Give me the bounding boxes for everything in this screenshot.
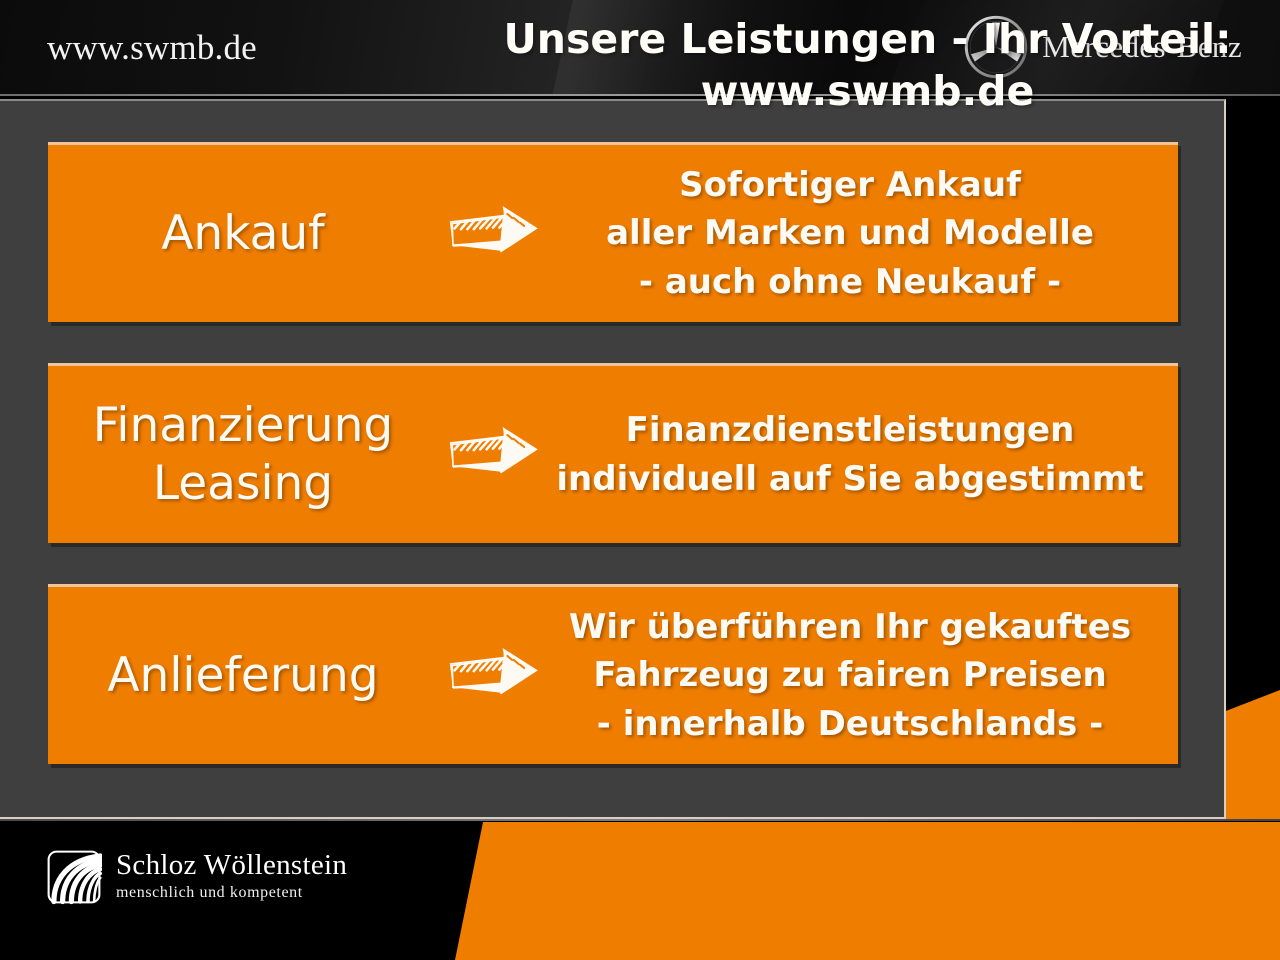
service-description-ankauf: Sofortiger Ankauf aller Marken und Model… xyxy=(548,161,1178,306)
service-title-line: Leasing xyxy=(48,455,438,512)
service-row-finanzierung-leasing: Finanzierung Leasing xyxy=(48,363,1178,543)
footer-divider xyxy=(0,819,1280,821)
description-line: Sofortiger Ankauf xyxy=(548,161,1152,209)
description-line: Wir überführen Ihr gekauftes xyxy=(548,603,1152,651)
description-line: - auch ohne Neukauf - xyxy=(548,258,1152,306)
sketch-arrow-right-icon xyxy=(445,645,541,707)
schloz-woellenstein-logo: Schloz Wöllenstein menschlich und kompet… xyxy=(46,849,347,905)
service-row-ankauf: Ankauf xyxy=(48,142,1178,322)
schloz-woellenstein-swoosh-icon xyxy=(46,849,102,905)
service-row-anlieferung: Anlieferung xyxy=(48,584,1178,764)
dealer-tagline: menschlich und kompetent xyxy=(116,883,347,904)
description-line: individuell auf Sie abgestimmt xyxy=(548,455,1152,503)
service-title-finanzierung-leasing: Finanzierung Leasing xyxy=(48,397,438,512)
sketch-arrow-right-icon xyxy=(445,203,541,265)
service-title-line: Ankauf xyxy=(48,205,438,262)
dealer-wordmark: Schloz Wöllenstein menschlich und kompet… xyxy=(116,850,347,903)
header-site-url: www.swmb.de xyxy=(47,28,257,68)
sketch-arrow-right-icon xyxy=(445,424,541,486)
description-line: aller Marken und Modelle xyxy=(548,209,1152,257)
service-title-line: Anlieferung xyxy=(48,647,438,704)
service-title-anlieferung: Anlieferung xyxy=(48,647,438,704)
service-title-ankauf: Ankauf xyxy=(48,205,438,262)
footer-url[interactable]: www.swmb.de xyxy=(455,65,1280,117)
slide-root: www.swmb.de xyxy=(0,0,1280,960)
arrow-cell xyxy=(438,645,548,707)
arrow-cell xyxy=(438,424,548,486)
dealer-name: Schloz Wöllenstein xyxy=(116,850,347,880)
footer-headline: Unsere Leistungen - Ihr Vorteil: xyxy=(455,13,1280,65)
arrow-cell xyxy=(438,203,548,265)
description-line: Finanzdienstleistungen xyxy=(548,406,1152,454)
service-description-finanzierung-leasing: Finanzdienstleistungen individuell auf S… xyxy=(548,406,1178,503)
service-title-line: Finanzierung xyxy=(48,397,438,454)
footer-callout: Unsere Leistungen - Ihr Vorteil: www.swm… xyxy=(455,13,1280,118)
service-description-anlieferung: Wir überführen Ihr gekauftes Fahrzeug zu… xyxy=(548,603,1178,748)
services-panel: Ankauf xyxy=(0,99,1226,819)
description-line: Fahrzeug zu fairen Preisen xyxy=(548,651,1152,699)
description-line: - innerhalb Deutschlands - xyxy=(548,700,1152,748)
